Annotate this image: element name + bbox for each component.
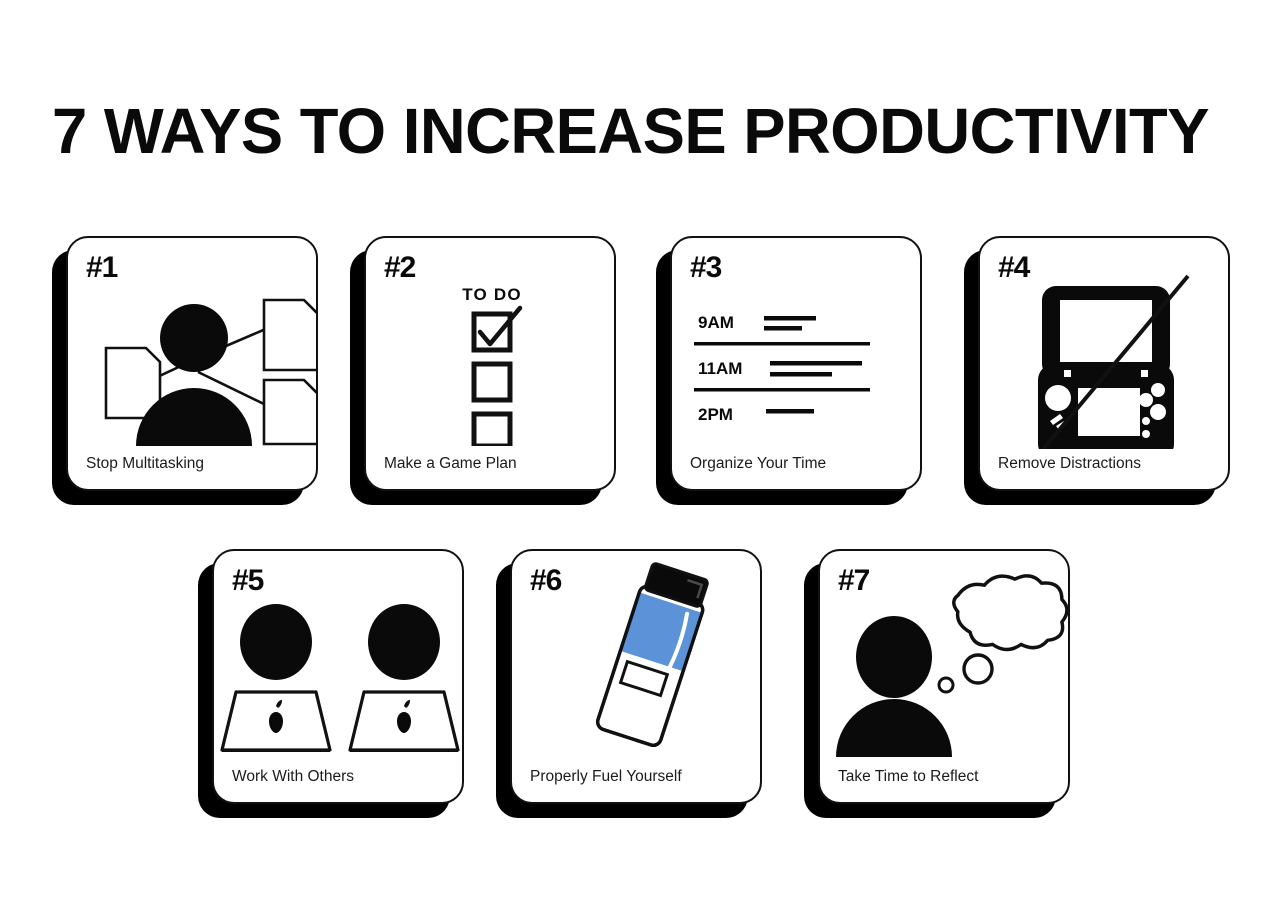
- person-head: [856, 616, 932, 698]
- thought-bubble-medium: [964, 655, 992, 683]
- card-face: #2 TO DO Make a Game Plan: [364, 236, 616, 491]
- todo-checklist-icon: TO DO: [366, 276, 616, 446]
- two-people-with-laptops-icon: [214, 595, 464, 765]
- card-number: #5: [232, 564, 263, 598]
- card-number: #4: [998, 251, 1029, 285]
- handheld-console-crossed-out-icon: [980, 264, 1230, 449]
- card-caption: Work With Others: [232, 768, 354, 786]
- card-1[interactable]: #1 Stop Multitasking: [66, 236, 318, 491]
- person-with-thought-bubble-icon: [820, 561, 1070, 757]
- card-caption: Remove Distractions: [998, 455, 1141, 473]
- card-face: #6 Prope: [510, 549, 762, 804]
- card-face: #1 Stop Multitasking: [66, 236, 318, 491]
- card-3[interactable]: #3 9AM 11AM 2PM Organize Your Time: [670, 236, 922, 491]
- schedule-time-9am: 9AM: [698, 313, 734, 332]
- handheld-console-crossed-out-wrap: [980, 264, 1230, 434]
- card-caption: Make a Game Plan: [384, 455, 517, 473]
- card-face: #3 9AM 11AM 2PM Organize Your Time: [670, 236, 922, 491]
- card-2[interactable]: #2 TO DO Make a Game Plan: [364, 236, 616, 491]
- card-4[interactable]: #4 Remove Distractions: [978, 236, 1230, 491]
- todo-heading: TO DO: [462, 285, 522, 304]
- card-face: #4 Remove Distractions: [978, 236, 1230, 491]
- schedule-icon: 9AM 11AM 2PM: [672, 276, 922, 446]
- page-title: 7 WAYS TO INCREASE PRODUCTIVITY: [52, 94, 1209, 168]
- thought-bubble-small: [939, 678, 953, 692]
- console-body: [1038, 286, 1174, 449]
- card-caption: Take Time to Reflect: [838, 768, 978, 786]
- person-right: [350, 604, 458, 752]
- card-face: #5 Work With Others: [212, 549, 464, 804]
- card-face: #7 Take Time to Reflect: [818, 549, 1070, 804]
- checkbox-3: [474, 414, 510, 446]
- checkbox-2: [474, 364, 510, 400]
- water-bottle-icon: [512, 557, 762, 757]
- card-caption: Organize Your Time: [690, 455, 826, 473]
- card-7[interactable]: #7 Take Time to Reflect: [818, 549, 1070, 804]
- person-body: [836, 699, 952, 757]
- schedule-time-11am: 11AM: [698, 359, 742, 378]
- card-caption: Stop Multitasking: [86, 455, 204, 473]
- person-left: [222, 604, 330, 752]
- card-6[interactable]: #6 Prope: [510, 549, 762, 804]
- person-with-documents-icon: [68, 276, 318, 446]
- card-caption: Properly Fuel Yourself: [530, 768, 682, 786]
- infographic-canvas: 7 WAYS TO INCREASE PRODUCTIVITY #1: [0, 0, 1280, 922]
- thought-cloud: [954, 576, 1067, 650]
- card-5[interactable]: #5 Work With Others: [212, 549, 464, 804]
- schedule-time-2pm: 2PM: [698, 405, 733, 424]
